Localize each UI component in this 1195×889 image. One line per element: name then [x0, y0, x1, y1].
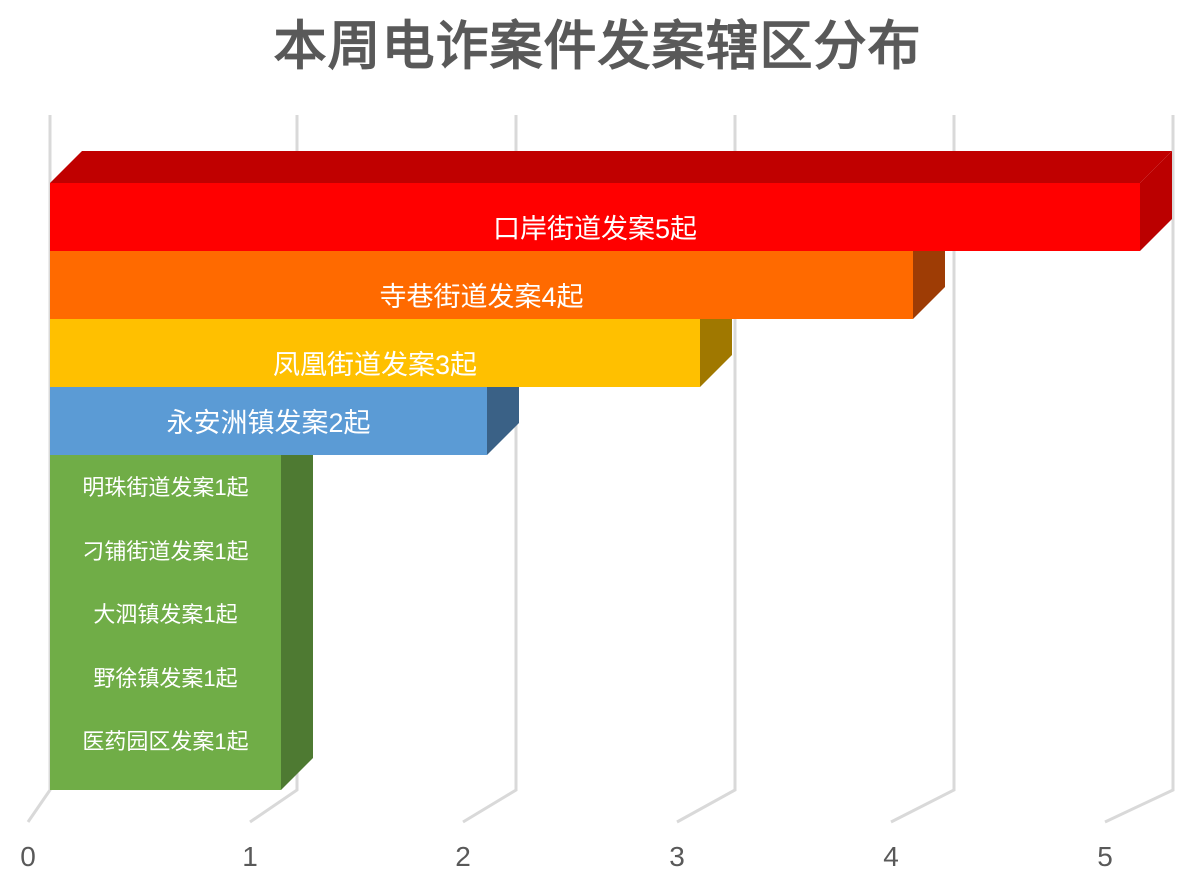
bar-top-1 [50, 151, 1172, 183]
bar-front-2 [50, 251, 913, 319]
axis-tick-1: 1 [210, 841, 290, 873]
bar-front-green [50, 455, 281, 790]
bar-group-1 [50, 151, 1172, 251]
axis-tick-3: 3 [637, 841, 717, 873]
chart-container: 本周电诈案件发案辖区分布 [0, 0, 1195, 889]
gridline-0 [28, 115, 50, 822]
plot-area [0, 0, 1195, 889]
axis-tick-4: 4 [851, 841, 931, 873]
axis-tick-5: 5 [1065, 841, 1145, 873]
bar-front-4 [50, 387, 487, 455]
bar-front-3 [50, 319, 700, 387]
axis-tick-0: 0 [0, 841, 68, 873]
bar-group-green [50, 423, 313, 790]
bar-front-1 [50, 183, 1140, 251]
axis-tick-2: 2 [423, 841, 503, 873]
bar-side-green [281, 423, 313, 790]
